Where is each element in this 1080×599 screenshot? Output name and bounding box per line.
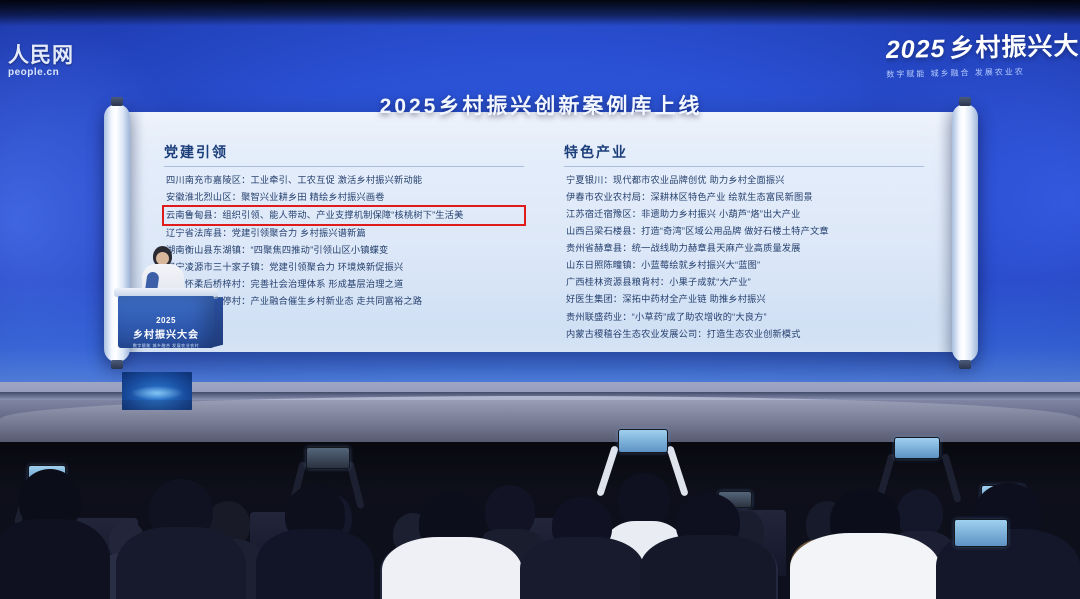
case-column-header: 党建引领 [164, 142, 524, 167]
case-row[interactable]: 贵州联盛药业：“小草药”成了助农增收的“大良方” [564, 309, 924, 326]
audience-torso [0, 519, 110, 599]
audience-member-front [0, 469, 110, 599]
stage-banner-title-line: 2025乡村振兴大 [885, 26, 1080, 66]
podium: 2025 乡村振兴大会 数字赋能 城乡融合 发展农业农村 [118, 288, 214, 348]
case-row[interactable]: 广西桂林资源县粮背村：小果子成就“大产业” [564, 274, 924, 291]
scroll-title: 2025乡村振兴创新案例库上线 [96, 90, 986, 120]
case-row[interactable]: 四川南充市嘉陵区：工业牵引、工农互促 激活乡村振兴新动能 [164, 172, 524, 189]
case-row[interactable]: 贵州省赫章县：统一战线助力赫章县天麻产业高质量发展 [564, 240, 924, 257]
audience-phone [954, 519, 1008, 547]
podium-sign: 2025 乡村振兴大会 数字赋能 城乡融合 发展农业农村 [118, 316, 214, 349]
case-row[interactable]: 山西吕梁石楼县：打造“奇湾”区域公用品牌 做好石楼土特产文章 [564, 223, 924, 240]
audience-area [0, 400, 1080, 599]
audience-phone [894, 437, 940, 459]
podium-subtitle: 数字赋能 城乡融合 发展农业农村 [118, 343, 214, 349]
case-row[interactable]: 江苏宿迁宿豫区：非遗助力乡村振兴 小葫芦“烙”出大产业 [564, 206, 924, 223]
audience-member-front [520, 497, 644, 599]
audience-member-front [256, 485, 374, 599]
audience-member-front [936, 483, 1080, 599]
audience-phone [618, 429, 668, 453]
case-row[interactable]: 宁夏银川：现代都市农业品牌创优 助力乡村全面振兴 [564, 172, 924, 189]
podium-year: 2025 [118, 316, 214, 325]
audience-torso [116, 527, 246, 599]
case-row[interactable]: 内蒙古稷稙谷生态农业发展公司：打造生态农业创新模式 [564, 326, 924, 343]
case-row[interactable]: 北京怀柔后桥梓村：完善社会治理体系 形成基层治理之道 [164, 276, 524, 293]
stage-banner-subtitle: 数字赋能 城乡融合 发展农业农 [886, 65, 1080, 80]
audience-member-front [640, 493, 776, 599]
audience-torso [640, 535, 776, 599]
audience-torso [790, 533, 940, 599]
scroll-roller-cap [959, 360, 971, 369]
audience-member-front [790, 489, 940, 599]
audience-member-front [382, 493, 522, 599]
case-row-highlighted[interactable]: 云南鲁甸县：组织引领、能人带动、产业支撑机制保障“核桃树下”生活美 [164, 207, 524, 224]
peoplecn-logo: 人民网 people.cn [8, 44, 94, 78]
audience-torso [520, 537, 644, 599]
scroll-roller-right [952, 104, 978, 362]
stage-banner-year: 2025 [886, 35, 946, 64]
scroll-paper: 党建引领 四川南充市嘉陵区：工业牵引、工农互促 激活乡村振兴新动能 安徽淮北烈山… [118, 112, 964, 352]
case-columns: 党建引领 四川南充市嘉陵区：工业牵引、工农互促 激活乡村振兴新动能 安徽淮北烈山… [164, 142, 924, 338]
case-column-header: 特色产业 [564, 142, 924, 167]
case-row[interactable]: 山东日照陈疃镇：小蓝莓绘就乡村振兴大“蓝图” [564, 257, 924, 274]
case-column-featured-industry: 特色产业 宁夏银川：现代都市农业品牌创优 助力乡村全面振兴 伊春市农业农村局：深… [564, 142, 924, 338]
case-row[interactable]: 湖南衡山县东湖镇：“四聚焦四推动”引领山区小镇蝶变 [164, 242, 524, 259]
audience-member-front [116, 479, 246, 599]
peoplecn-logo-cn: 人民网 [8, 44, 94, 65]
podium-conference-name: 乡村振兴大会 [118, 326, 214, 341]
broadcast-frame: 人民网 people.cn 2025乡村振兴大 数字赋能 城乡融合 发展农业农 … [0, 0, 1080, 599]
stage-banner-top-right: 2025乡村振兴大 数字赋能 城乡融合 发展农业农 [885, 26, 1080, 86]
case-row[interactable]: 安徽淮北烈山区：聚智兴业耕乡田 精绘乡村振兴画卷 [164, 189, 524, 206]
audience-torso [382, 537, 522, 599]
audience-phone [306, 447, 350, 469]
case-library-scroll: 2025乡村振兴创新案例库上线 党建引领 四川南充市嘉陵区：工业牵引、工农互促 … [96, 108, 986, 358]
case-row[interactable]: 辽宁凌源市三十家子镇：党建引领聚合力 环境焕新促振兴 [164, 259, 524, 276]
audience-torso [256, 529, 374, 599]
stage-banner-title: 乡村振兴大 [949, 32, 1080, 63]
case-row[interactable]: 伊春市农业农村局：深耕林区特色产业 绘就生态富民新图景 [564, 189, 924, 206]
podium-body: 2025 乡村振兴大会 数字赋能 城乡融合 发展农业农村 [118, 296, 214, 348]
peoplecn-logo-latin: people.cn [8, 68, 94, 78]
case-row[interactable]: 好医生集团：深拓中药材全产业链 助推乡村振兴 [564, 291, 924, 308]
scroll-roller-cap [111, 360, 123, 369]
case-row[interactable]: 辽宁省法库县：党建引领聚合力 乡村振兴谱新篇 [164, 225, 524, 242]
podium-side [213, 297, 223, 347]
